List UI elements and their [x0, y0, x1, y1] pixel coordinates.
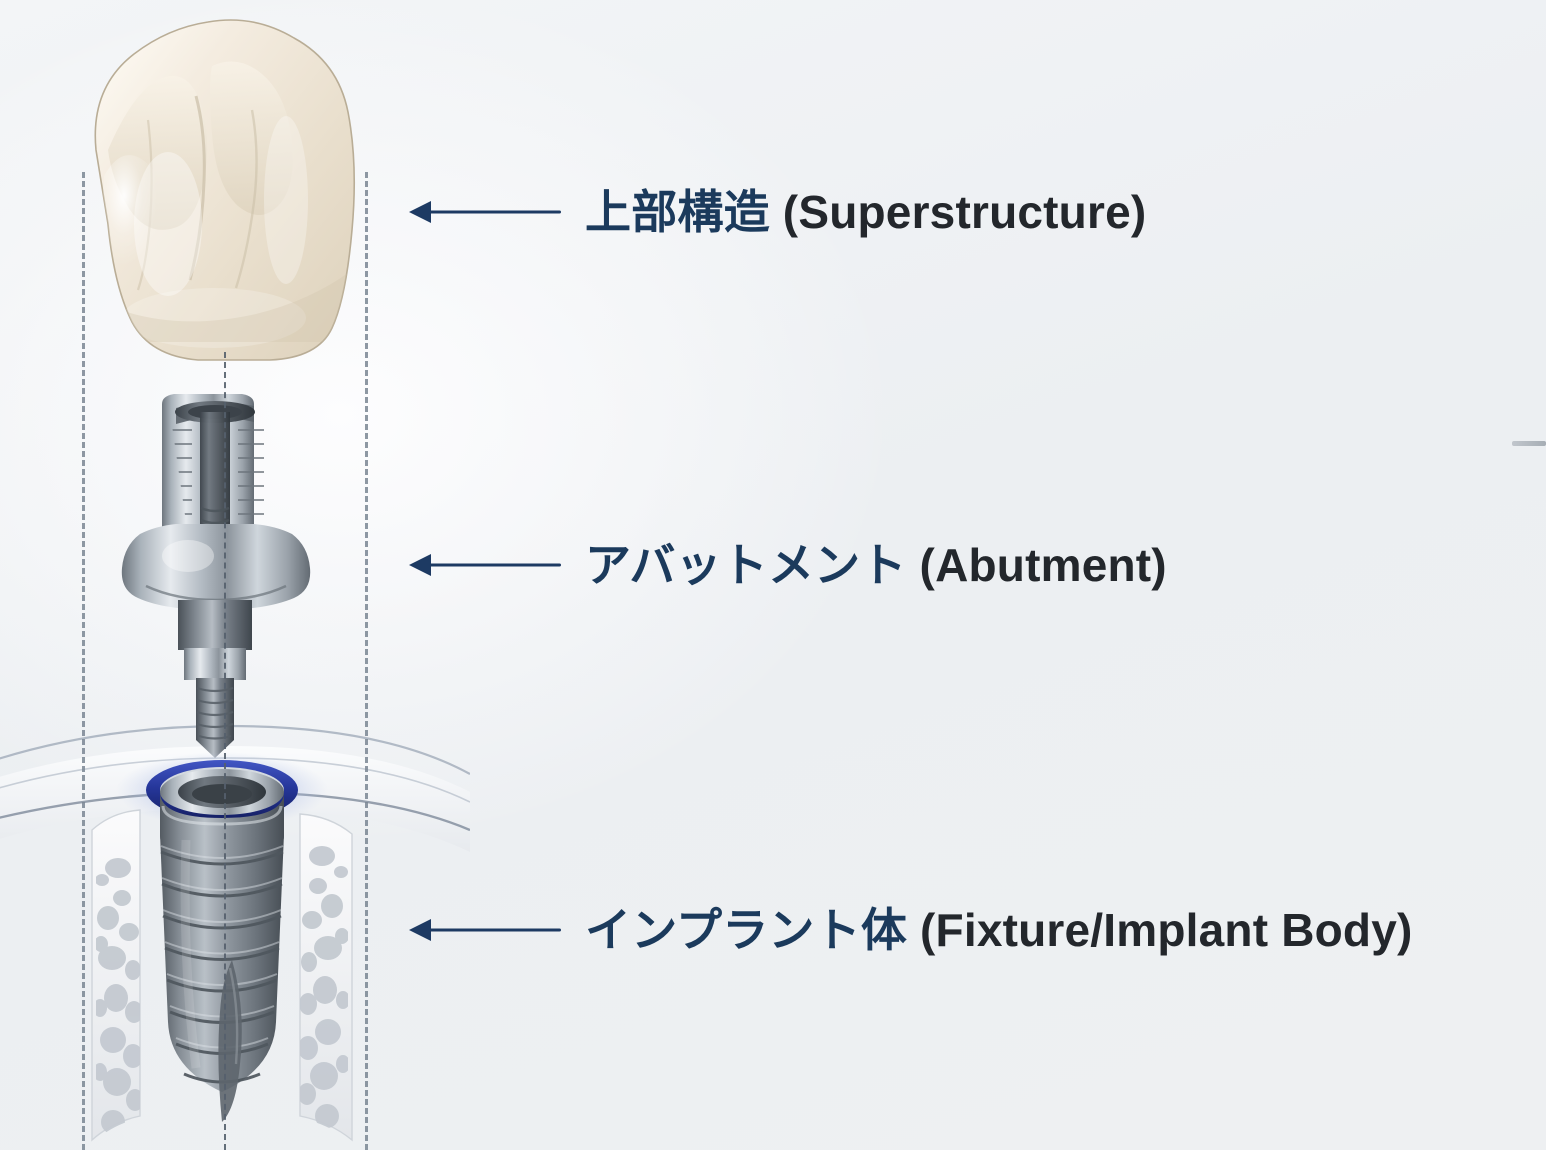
guide-line-center [224, 352, 226, 1150]
left-arrow-icon [409, 918, 561, 942]
implant-anatomy-illustration [0, 0, 470, 1150]
callout-label-en: (Fixture/Implant Body) [920, 904, 1413, 956]
diagram-canvas: 上部構造 (Superstructure) アバットメント (Abutment)… [0, 0, 1546, 1150]
threaded-implant-screw [116, 752, 328, 1122]
callout-label-jp: 上部構造 [585, 186, 770, 238]
callout-label-en: (Abutment) [920, 539, 1167, 591]
callout-label-en: (Superstructure) [783, 186, 1147, 238]
left-arrow-icon [409, 200, 561, 224]
callout-label-fixture: インプラント体 (Fixture/Implant Body) [585, 907, 1413, 953]
left-arrow-icon [409, 553, 561, 577]
dental-crown-molar [95, 20, 354, 360]
callout-fixture: インプラント体 (Fixture/Implant Body) [409, 907, 1413, 953]
edge-marker-tick [1512, 441, 1546, 446]
callout-label-abutment: アバットメント (Abutment) [585, 542, 1167, 588]
callout-label-superstructure: 上部構造 (Superstructure) [585, 189, 1146, 235]
callout-label-jp: アバットメント [585, 539, 907, 591]
guide-line-left [82, 172, 85, 1150]
callout-label-jp: インプラント体 [585, 904, 907, 956]
guide-line-right [365, 172, 368, 1150]
callout-abutment: アバットメント (Abutment) [409, 542, 1167, 588]
callout-superstructure: 上部構造 (Superstructure) [409, 189, 1146, 235]
titanium-abutment [122, 394, 310, 758]
